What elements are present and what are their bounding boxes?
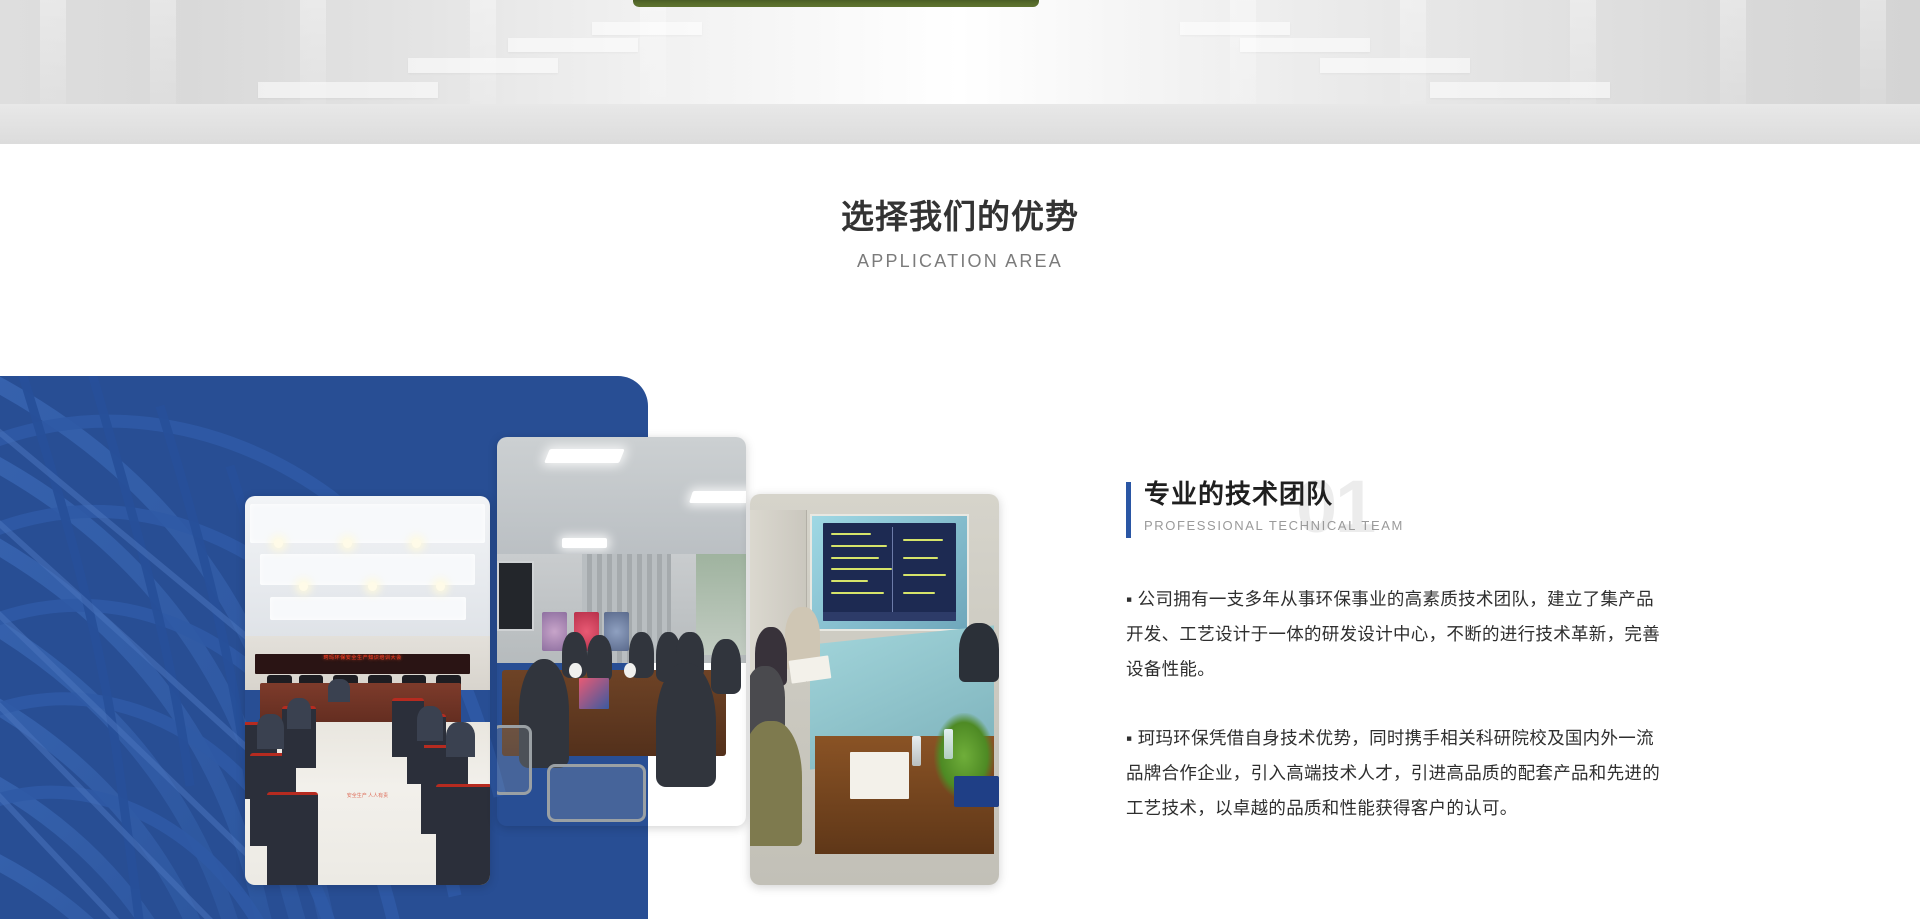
- photo-projector-presentation-room: [750, 494, 999, 885]
- photo-auditorium-training-session: 珂玛环保安全生产知识培训大会 安全生产 人人有责: [245, 496, 490, 885]
- hero-step: [408, 58, 558, 73]
- photo1-ceiling-panel: [270, 597, 466, 620]
- photo3-foreground-person: [750, 721, 802, 846]
- photo2-chair: [497, 725, 532, 795]
- photo3-water-bottle: [944, 729, 953, 759]
- photo2-laptop: [579, 678, 609, 709]
- photo1-ceiling-lamp: [343, 539, 352, 548]
- photo1-seat: [436, 784, 490, 885]
- hero-step: [1180, 22, 1290, 35]
- photo1-floor-text: 安全生产 人人有责: [319, 792, 417, 799]
- hero-step: [1430, 82, 1610, 98]
- feature-title-cn: 专业的技术团队: [1126, 478, 1666, 511]
- page-root: 选择我们的优势 APPLICATION AREA: [0, 0, 1920, 919]
- feature-paragraph-1: ▪ 公司拥有一支多年从事环保事业的高素质技术团队，建立了集产品开发、工艺设计于一…: [1126, 582, 1666, 687]
- hero-grass-strip: [633, 0, 1039, 7]
- feature-heading: 01 专业的技术团队 PROFESSIONAL TECHNICAL TEAM: [1126, 478, 1666, 546]
- photo1-ceiling-lamp: [368, 582, 377, 591]
- section-subtitle: APPLICATION AREA: [0, 251, 1920, 272]
- photo1-seat: [267, 792, 318, 885]
- hero-floor: [0, 104, 1920, 144]
- photo2-light-tube: [562, 538, 607, 548]
- photo1-speaker: [328, 679, 350, 702]
- photo2-cup: [569, 663, 581, 679]
- feature-title-en: PROFESSIONAL TECHNICAL TEAM: [1126, 518, 1666, 533]
- photo1-ceiling-panel: [250, 504, 485, 543]
- photo3-presenter: [959, 623, 999, 682]
- photo2-attendee: [711, 639, 741, 693]
- photo3-document: [850, 752, 910, 799]
- photo3-water-bottle: [912, 736, 921, 766]
- hero-step: [592, 22, 702, 35]
- photo1-ceiling-lamp: [299, 582, 308, 591]
- photo2-light-tube: [689, 491, 746, 503]
- section-title: 选择我们的优势: [0, 196, 1920, 237]
- hero-step: [258, 82, 438, 98]
- photo3-projection-screen: [810, 514, 969, 631]
- photo1-attendee: [257, 714, 284, 749]
- hero-banner: [0, 0, 1920, 144]
- photo1-led-banner: 珂玛环保安全生产知识培训大会: [255, 654, 471, 674]
- photo3-folder: [954, 776, 999, 807]
- photo1-attendee: [446, 722, 475, 757]
- photo1-ceiling-lamp: [436, 582, 445, 591]
- photo1-led-banner-text: 珂玛环保安全生产知识培训大会: [255, 654, 471, 674]
- feature-content: 01 专业的技术团队 PROFESSIONAL TECHNICAL TEAM ▪…: [1126, 478, 1666, 826]
- hero-step: [1240, 38, 1370, 52]
- photo1-attendee: [417, 706, 444, 741]
- hero-step: [1320, 58, 1470, 73]
- photo-conference-room-meeting: [497, 437, 746, 826]
- photo2-foreground-person: [656, 663, 716, 787]
- photo1-ceiling-panel: [260, 554, 476, 585]
- photo2-chair: [547, 764, 647, 822]
- feature-paragraph-2: ▪ 珂玛环保凭借自身技术优势，同时携手相关科研院校及国内外一流品牌合作企业，引入…: [1126, 721, 1666, 826]
- photo2-whiteboard: [497, 561, 534, 631]
- photo2-light-tube: [544, 449, 624, 463]
- photo1-attendee: [287, 698, 312, 729]
- hero-step: [508, 38, 638, 52]
- photo3-slide-content: [823, 523, 957, 620]
- photo1-ceiling-lamp: [412, 539, 421, 548]
- photo2-attendee: [587, 635, 612, 682]
- section-heading: 选择我们的优势 APPLICATION AREA: [0, 196, 1920, 272]
